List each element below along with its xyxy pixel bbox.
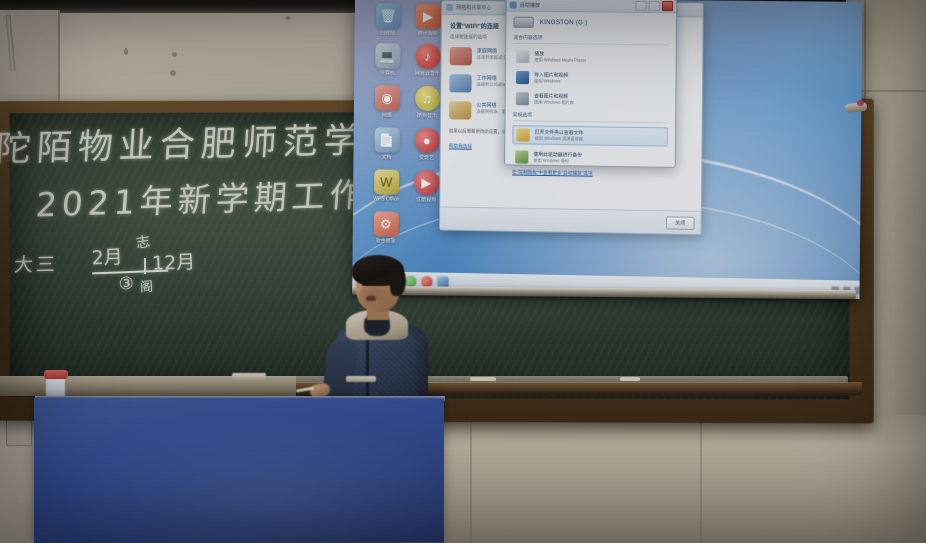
window-controls[interactable] [635, 1, 673, 11]
classroom-photo: 陀陌物业合肥师范学院 2021年新学期工作大会 大三 2月 ③ 志 阁 12月 … [0, 0, 926, 543]
chalkboard-fraction-numerator: 2月 [91, 246, 123, 269]
lower-wall-seam [470, 415, 472, 543]
close-button[interactable]: 关闭 [666, 216, 695, 230]
autoplay-option-text: 播放 使用 Windows Media Player [534, 50, 586, 64]
home-icon [450, 47, 472, 65]
autoplay-option-text: 使用此驱动器进行备份 使用 Windows 备份 [533, 151, 582, 165]
wizard-help-link[interactable]: 帮助我选择 [449, 143, 472, 149]
window-footer: 关闭 [440, 206, 701, 234]
autoplay-option[interactable]: 播放 使用 Windows Media Player [513, 48, 669, 67]
backup-icon [515, 150, 528, 163]
desktop-icon-label: 软件管家 [365, 238, 407, 245]
autoplay-option[interactable]: 导入图片和视频 使用 Windows [513, 69, 669, 88]
desktop-icon-label: 文档 [365, 154, 407, 161]
chalkboard-note-month: 12月 [152, 247, 196, 275]
maximize-icon[interactable] [649, 1, 660, 11]
desktop-icon[interactable]: ◉ 网络 [366, 85, 408, 119]
usb-drive-icon [513, 17, 533, 28]
kugou-music-icon: ♫ [414, 86, 439, 111]
network-icon: ◉ [374, 85, 399, 110]
desktop-icon[interactable]: ⚙ 软件管家 [365, 211, 407, 245]
chalkboard-heading-line1: 陀陌物业合肥师范学院 [0, 111, 408, 172]
autoplay-option-desc: 使用 Windows 资源管理器 [535, 136, 584, 143]
wall-mark [124, 48, 128, 55]
device-row: KINGSTON (G:) [513, 17, 668, 30]
section-header-media: 混合内容选项 [513, 34, 668, 46]
autoplay-option-desc: 使用 Windows 相片库 [534, 99, 574, 106]
desktop-icon[interactable]: 📄 文档 [365, 127, 407, 161]
mouth [366, 296, 376, 301]
lower-wall-seam [700, 415, 702, 543]
desktop-icon[interactable]: 💻 计算机 [366, 43, 408, 77]
blackboard-eraser [232, 373, 266, 380]
wps-office-icon: W [374, 169, 399, 194]
close-icon[interactable] [662, 1, 673, 11]
chalkboard-note-grade: 大三 [13, 250, 58, 278]
window-title: 网络和共享中心 [456, 4, 491, 11]
bottle-cap [44, 370, 68, 379]
desktop-icon-label: 回收站 [367, 30, 409, 36]
desktop-icon-label: 计算机 [366, 70, 408, 77]
autoplay-option-desc: 使用 Windows 备份 [533, 158, 582, 165]
import-photos-icon [516, 71, 529, 84]
open-folder-icon [516, 128, 529, 141]
podium-highlight [34, 398, 444, 543]
autoplay-option-text: 导入图片和视频 使用 Windows [534, 71, 568, 85]
device-name: KINGSTON (G:) [540, 19, 588, 26]
autoplay-dialog[interactable]: 自动播放 KINGSTON (G:) 混合内容选项 播放 使用 [504, 0, 677, 168]
minimize-icon[interactable] [635, 1, 646, 11]
netease-music-icon: ♪ [415, 44, 440, 69]
wall-mark [170, 70, 176, 76]
tencent-video-icon: ▶ [415, 4, 440, 29]
iqiyi-icon: ● [414, 128, 439, 153]
view-photos-icon [516, 92, 529, 105]
youku-video-icon: ▶ [414, 170, 439, 195]
autoplay-option-desc: 使用 Windows Media Player [534, 57, 586, 64]
autoplay-option-desc: 使用 Windows [534, 78, 568, 84]
desktop-icon[interactable]: 🗑 回收站 [367, 3, 409, 36]
desktop-icon[interactable]: W WPS Office [365, 169, 407, 203]
chalkboard-note-sub: 阁 [140, 276, 154, 296]
desktop-icon-label: 网络 [366, 112, 408, 119]
chalk-stick [470, 377, 496, 381]
folder-icon [449, 101, 471, 119]
recycle-bin-icon: 🗑 [375, 3, 400, 28]
autoplay-option[interactable]: 查看图片和视频 使用 Windows 相片库 [513, 90, 669, 109]
desktop-icon-label: WPS Office [365, 196, 407, 203]
document-icon: 📄 [374, 127, 399, 152]
chalkboard-fraction-denominator: ③ [118, 274, 134, 295]
autoplay-control-panel-link[interactable]: 在“控制面板”中查看更多“自动播放”选项 [512, 169, 667, 177]
computer-icon: 💻 [375, 43, 400, 68]
section-header-general: 常规选项 [513, 111, 668, 123]
projection-screen: 🗑 回收站 ▶ 腾讯视频 💻 计算机 ♪ 网易云音乐 ◉ 网络 ♫ 酷狗音乐 📄… [352, 0, 862, 299]
window-app-icon [446, 4, 453, 11]
autoplay-option-text: 打开文件夹以查看文件 使用 Windows 资源管理器 [535, 129, 584, 143]
dialog-body: KINGSTON (G:) 混合内容选项 播放 使用 Windows Media… [505, 12, 676, 184]
hair-side [390, 266, 406, 296]
podium [34, 398, 444, 543]
software-manager-icon: ⚙ [373, 211, 398, 236]
autoplay-option[interactable]: 使用此驱动器进行备份 使用 Windows 备份 [512, 148, 668, 167]
dialog-title: 自动播放 [520, 1, 633, 9]
autoplay-app-icon [510, 1, 517, 8]
wall-mark [172, 52, 177, 57]
autoplay-option-text: 查看图片和视频 使用 Windows 相片库 [534, 92, 574, 106]
network-icon [449, 74, 471, 92]
media-play-icon [516, 50, 529, 63]
chalkboard-note-sup: 志 [135, 231, 152, 253]
screen-clip [857, 100, 864, 106]
wall-mark [286, 16, 290, 20]
autoplay-option-selected[interactable]: 打开文件夹以查看文件 使用 Windows 资源管理器 [512, 125, 668, 146]
chalkboard-tick [144, 258, 146, 274]
chalk-stick [620, 377, 640, 381]
blackboard-eraser [346, 376, 376, 382]
